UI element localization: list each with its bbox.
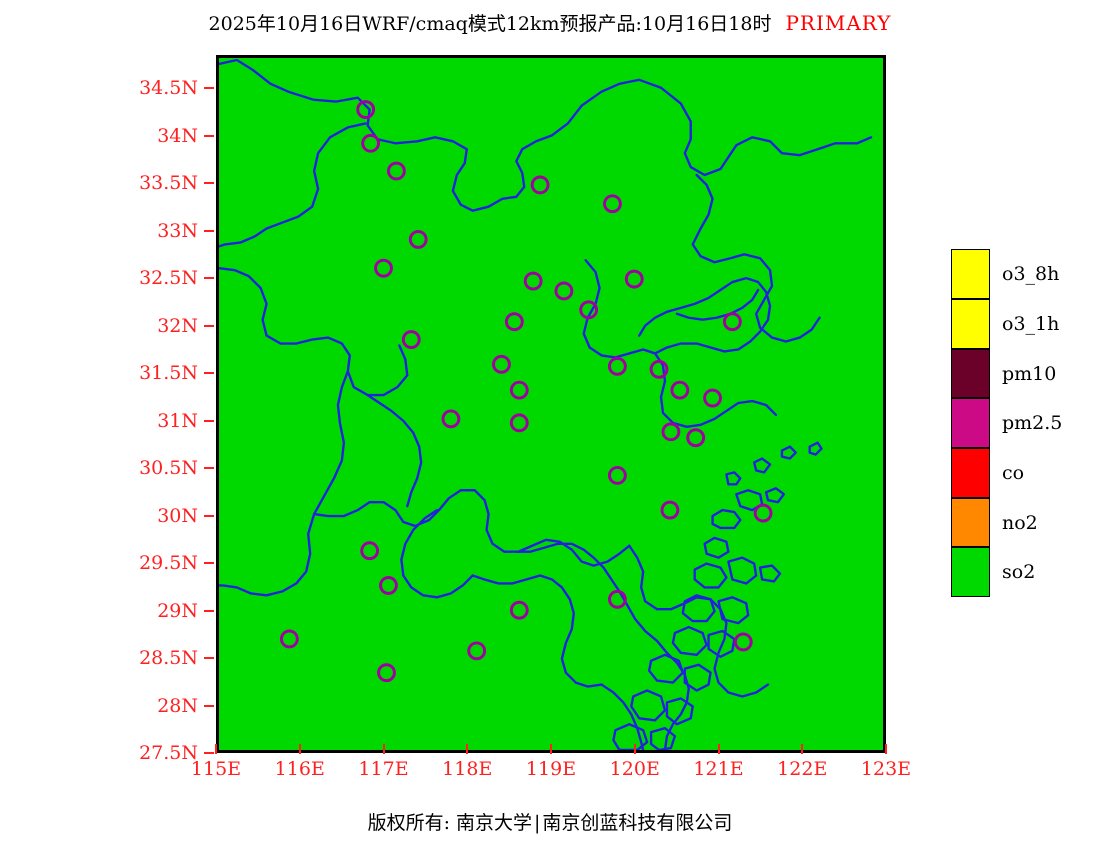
y-axis-tick-mark xyxy=(204,87,214,89)
y-axis-tick-label: 28.5N xyxy=(80,647,198,669)
x-axis-tick-label: 121E xyxy=(693,758,743,780)
y-axis-tick-label: 34.5N xyxy=(80,77,198,99)
y-axis-tick-mark xyxy=(204,657,214,659)
legend-item-label: co xyxy=(1002,464,1024,483)
map-vector-layer xyxy=(219,58,883,750)
legend-item-label: pm10 xyxy=(1002,365,1056,384)
title-primary-label: PRIMARY xyxy=(771,11,891,35)
y-axis-tick-label: 27.5N xyxy=(80,742,198,764)
x-axis-tick-label: 118E xyxy=(442,758,492,780)
legend-color-swatch xyxy=(951,498,990,548)
y-axis-tick-label: 33N xyxy=(80,220,198,242)
legend-item-label: o3_1h xyxy=(1002,315,1059,334)
legend-item-label: so2 xyxy=(1002,563,1035,582)
legend-item-no2[interactable]: no2 xyxy=(951,498,1091,548)
y-axis-tick-mark xyxy=(204,135,214,137)
x-axis-tick-label: 120E xyxy=(610,758,660,780)
y-axis-tick-mark xyxy=(204,277,214,279)
legend-color-swatch xyxy=(951,398,990,448)
y-axis-tick-mark xyxy=(204,420,214,422)
x-axis-tick-label: 119E xyxy=(526,758,576,780)
y-axis-tick-mark xyxy=(204,467,214,469)
y-axis-tick-mark xyxy=(204,752,214,754)
map-canvas[interactable] xyxy=(216,55,886,753)
page-title: 2025年10月16日WRF/cmaq模式12km预报产品:10月16日18时P… xyxy=(0,10,1100,37)
y-axis-tick-mark xyxy=(204,182,214,184)
footer-company: 南京创蓝科技有限公司 xyxy=(542,812,732,834)
legend-color-swatch xyxy=(951,448,990,498)
y-axis-tick-mark xyxy=(204,515,214,517)
y-axis-tick-label: 34N xyxy=(80,125,198,147)
title-main-text: 2025年10月16日WRF/cmaq模式12km预报产品:10月16日18时 xyxy=(209,13,772,35)
y-axis-tick-label: 31N xyxy=(80,410,198,432)
legend-item-label: no2 xyxy=(1002,514,1038,533)
y-axis-tick-label: 29.5N xyxy=(80,552,198,574)
legend-color-swatch xyxy=(951,349,990,399)
y-axis-tick-mark xyxy=(204,372,214,374)
legend-item-label: pm2.5 xyxy=(1002,414,1062,433)
y-axis-tick-label: 32N xyxy=(80,315,198,337)
map-background-fill xyxy=(219,58,883,750)
forecast-map-page: 2025年10月16日WRF/cmaq模式12km预报产品:10月16日18时P… xyxy=(0,0,1100,850)
legend-color-swatch xyxy=(951,547,990,597)
legend-color-swatch xyxy=(951,299,990,349)
legend-item-label: o3_8h xyxy=(1002,265,1059,284)
footer-copyright: 版权所有: 南京大学 xyxy=(368,812,532,834)
y-axis-tick-label: 32.5N xyxy=(80,267,198,289)
y-axis-tick-mark xyxy=(204,325,214,327)
y-axis-tick-mark xyxy=(204,230,214,232)
y-axis-tick-label: 33.5N xyxy=(80,172,198,194)
x-axis-tick-label: 117E xyxy=(358,758,408,780)
legend-item-o3-1h[interactable]: o3_1h xyxy=(951,300,1091,350)
y-axis-tick-mark xyxy=(204,562,214,564)
y-axis-tick-label: 30.5N xyxy=(80,457,198,479)
x-axis-tick-label: 123E xyxy=(861,758,911,780)
legend-item-pm2-5[interactable]: pm2.5 xyxy=(951,399,1091,449)
y-axis-tick-mark xyxy=(204,705,214,707)
legend-item-o3-8h[interactable]: o3_8h xyxy=(951,250,1091,300)
y-axis-tick-label: 29N xyxy=(80,600,198,622)
legend-item-co[interactable]: co xyxy=(951,449,1091,499)
legend-item-so2[interactable]: so2 xyxy=(951,548,1091,598)
legend-panel: o3_8ho3_1hpm10pm2.5cono2so2 xyxy=(951,250,1091,598)
x-axis-tick-label: 122E xyxy=(777,758,827,780)
x-axis-tick-label: 116E xyxy=(275,758,325,780)
y-axis-tick-label: 28N xyxy=(80,695,198,717)
x-axis-tick-label: 115E xyxy=(191,758,241,780)
footer-credit: 版权所有: 南京大学|南京创蓝科技有限公司 xyxy=(0,808,1100,835)
y-axis-tick-label: 30N xyxy=(80,505,198,527)
footer-separator: | xyxy=(532,812,542,834)
legend-color-swatch xyxy=(951,249,990,299)
legend-item-pm10[interactable]: pm10 xyxy=(951,349,1091,399)
y-axis-tick-label: 31.5N xyxy=(80,362,198,384)
y-axis-tick-mark xyxy=(204,610,214,612)
